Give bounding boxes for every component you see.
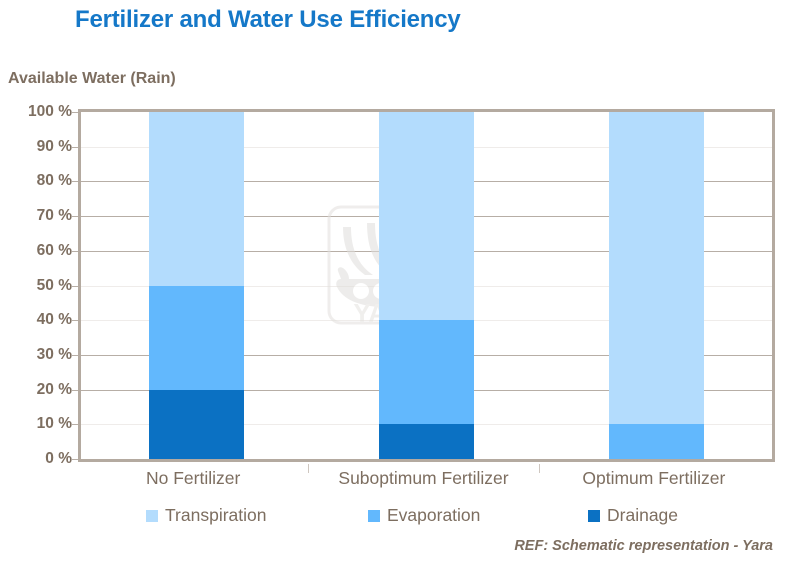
legend-label: Drainage [607,505,678,526]
bar-segment-transpiration[interactable] [609,112,704,424]
y-tick-label-80: 80 % [4,172,72,190]
x-axis-separator [539,464,540,473]
x-axis-category-labels: No FertilizerSuboptimum FertilizerOptimu… [78,468,775,494]
legend-item-evaporation[interactable]: Evaporation [368,505,480,526]
x-axis-separator [308,464,309,473]
x-tick-label-optimum-fertilizer: Optimum Fertilizer [582,468,725,489]
legend-item-transpiration[interactable]: Transpiration [146,505,266,526]
plot-area: YARA [78,109,775,462]
x-tick-label-suboptimum-fertilizer: Suboptimum Fertilizer [338,468,508,489]
y-axis-tick-labels: 100 %90 %80 %70 %60 %50 %40 %30 %20 %10 … [0,109,72,462]
bar-segment-transpiration[interactable] [149,112,244,286]
chart-title: Fertilizer and Water Use Efficiency [75,6,461,34]
y-tick-label-40: 40 % [4,311,72,329]
chart-legend: TranspirationEvaporationDrainage [78,505,775,531]
bar-segment-drainage[interactable] [149,390,244,459]
y-tick-label-100: 100 % [4,103,72,121]
y-tick-label-0: 0 % [4,450,72,468]
y-tick-label-50: 50 % [4,277,72,295]
legend-swatch-evaporation-icon [368,510,380,522]
bar-group-suboptimum-fertilizer [379,112,474,459]
bar-segment-evaporation[interactable] [149,286,244,390]
bar-segment-drainage[interactable] [379,424,474,459]
legend-label: Transpiration [165,505,266,526]
bar-segment-evaporation[interactable] [609,424,704,459]
reference-note: REF: Schematic representation - Yara [514,538,773,554]
legend-swatch-transpiration-icon [146,510,158,522]
bar-segment-transpiration[interactable] [379,112,474,320]
legend-swatch-drainage-icon [588,510,600,522]
bar-group-optimum-fertilizer [609,112,704,459]
x-tick-label-no-fertilizer: No Fertilizer [146,468,240,489]
y-tick-label-70: 70 % [4,207,72,225]
y-tick-label-30: 30 % [4,346,72,364]
bar-group-no-fertilizer [149,112,244,459]
legend-label: Evaporation [387,505,480,526]
y-tick-label-90: 90 % [4,138,72,156]
legend-item-drainage[interactable]: Drainage [588,505,678,526]
plot-inner: YARA [81,112,772,459]
y-axis-title: Available Water (Rain) [8,70,176,88]
bar-segment-evaporation[interactable] [379,320,474,424]
y-tick-label-10: 10 % [4,415,72,433]
y-tick-label-60: 60 % [4,242,72,260]
y-tick-label-20: 20 % [4,381,72,399]
